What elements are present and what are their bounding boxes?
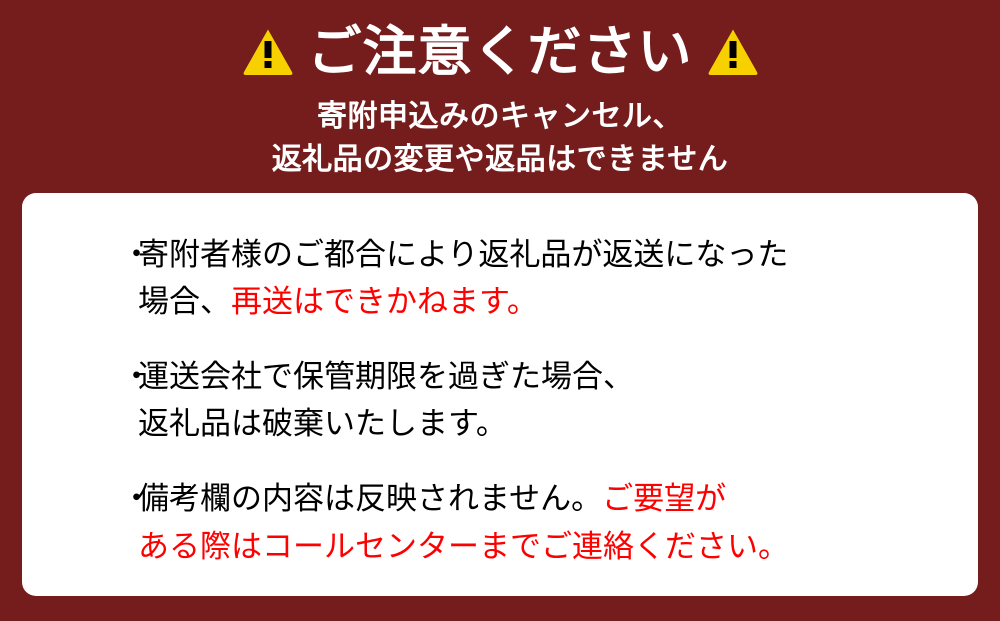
subtitle-line-2: 返礼品の変更や返品はできません — [0, 139, 1000, 182]
notice-text-highlight: ある際はコールセンターまでご連絡ください。 — [138, 529, 789, 564]
notice-bullet-marker: ・ — [121, 353, 152, 400]
notice-bullet-marker: ・ — [121, 231, 152, 278]
notice-item: ・運送会社で保管期限を過ぎた場合、返礼品は破棄いたします。 — [138, 353, 938, 447]
notice-bullet-marker: ・ — [121, 475, 152, 522]
notice-text: 寄附者様のご都合により返礼品が返送になった場合、再送はできかねます。 — [138, 231, 938, 325]
notice-text: 備考欄の内容は反映されません。ご要望がある際はコールセンターまでご連絡ください。 — [138, 475, 938, 569]
notice-text-highlight: 再送はできかねます。 — [231, 284, 538, 319]
subtitle-line-1: 寄附申込みのキャンセル、 — [0, 96, 1000, 139]
title-row: ご注意ください — [0, 16, 1000, 88]
banner-subtitle: 寄附申込みのキャンセル、 返礼品の変更や返品はできません — [0, 96, 1000, 181]
notice-text: 運送会社で保管期限を過ぎた場合、返礼品は破棄いたします。 — [138, 353, 938, 447]
page-title: ご注意ください — [308, 25, 693, 79]
warning-triangle-icon — [242, 27, 294, 77]
notice-banner: ご注意ください 寄附申込みのキャンセル、 返礼品の変更や返品はできません ・寄附… — [0, 0, 1000, 621]
notice-list: ・寄附者様のご都合により返礼品が返送になった場合、再送はできかねます。・運送会社… — [138, 231, 938, 570]
notice-text-segment: 場合、 — [138, 284, 231, 319]
notice-text-segment: 寄附者様のご都合により返礼品が返送になった — [138, 237, 788, 272]
notice-item: ・寄附者様のご都合により返礼品が返送になった場合、再送はできかねます。 — [138, 231, 938, 325]
warning-triangle-icon — [707, 27, 759, 77]
notice-text-segment: 運送会社で保管期限を過ぎた場合、 — [138, 359, 634, 394]
notice-text-segment: 備考欄の内容は反映されません。 — [138, 481, 602, 516]
banner-header: ご注意ください 寄附申込みのキャンセル、 返礼品の変更や返品はできません — [0, 0, 1000, 181]
notice-item: ・備考欄の内容は反映されません。ご要望がある際はコールセンターまでご連絡ください… — [138, 475, 938, 569]
notice-card: ・寄附者様のご都合により返礼品が返送になった場合、再送はできかねます。・運送会社… — [22, 193, 978, 596]
notice-text-highlight: ご要望が — [602, 481, 726, 516]
notice-text-segment: 返礼品は破棄いたします。 — [138, 406, 507, 441]
